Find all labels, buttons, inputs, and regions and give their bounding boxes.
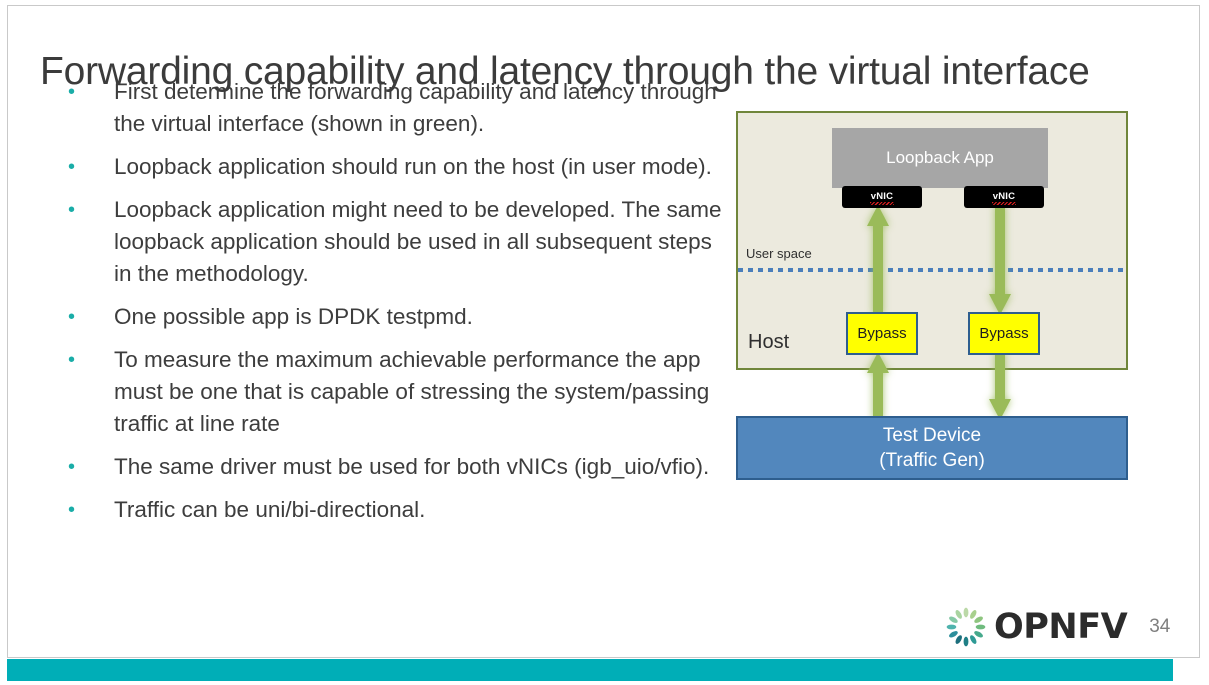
bottom-accent-bar <box>7 659 1173 681</box>
bullet-list: • First determine the forwarding capabil… <box>62 76 722 537</box>
list-item-text: One possible app is DPDK testpmd. <box>114 301 722 333</box>
list-item: • Traffic can be uni/bi-directional. <box>62 494 722 526</box>
list-item: • The same driver must be used for both … <box>62 451 722 483</box>
list-item-text: The same driver must be used for both vN… <box>114 451 722 483</box>
arrow-down-bypass-to-testdevice-icon <box>988 351 1012 421</box>
list-item-text: First determine the forwarding capabilit… <box>114 76 722 140</box>
opnfv-burst-logo-icon <box>944 605 988 649</box>
vnic-left-label: vNIC <box>871 191 893 203</box>
list-item: • First determine the forwarding capabil… <box>62 76 722 140</box>
arrow-up-vnic-to-bypass-icon <box>866 204 890 316</box>
list-item-text: Loopback application might need to be de… <box>114 194 722 290</box>
loopback-app-box: Loopback App <box>832 128 1048 188</box>
list-item: • Loopback application might need to be … <box>62 194 722 290</box>
bullet-marker-icon: • <box>62 194 114 226</box>
bypass-right-box: Bypass <box>968 312 1040 355</box>
bullet-marker-icon: • <box>62 451 114 483</box>
bullet-marker-icon: • <box>62 151 114 183</box>
user-space-label: User space <box>746 246 812 262</box>
vnic-right-label: vNIC <box>993 191 1015 203</box>
list-item: • To measure the maximum achievable perf… <box>62 344 722 440</box>
test-device-label-line1: Test Device <box>883 423 981 448</box>
bullet-marker-icon: • <box>62 494 114 526</box>
vnic-left-box: vNIC <box>842 186 922 208</box>
user-kernel-divider-line <box>738 268 1126 272</box>
bypass-right-label: Bypass <box>979 325 1028 342</box>
list-item: • Loopback application should run on the… <box>62 151 722 183</box>
bullet-marker-icon: • <box>62 301 114 333</box>
opnfv-wordmark: OPNFV <box>994 609 1127 645</box>
bypass-left-box: Bypass <box>846 312 918 355</box>
host-label: Host <box>748 331 789 353</box>
list-item-text: Traffic can be uni/bi-directional. <box>114 494 722 526</box>
bypass-left-label: Bypass <box>857 325 906 342</box>
slide-canvas: Forwarding capability and latency throug… <box>0 0 1209 685</box>
arrow-down-vnic-to-bypass-icon <box>988 204 1012 316</box>
list-item: • One possible app is DPDK testpmd. <box>62 301 722 333</box>
test-device-label-line2: (Traffic Gen) <box>879 448 985 473</box>
page-number: 34 <box>1149 609 1170 645</box>
bullet-marker-icon: • <box>62 76 114 108</box>
list-item-text: To measure the maximum achievable perfor… <box>114 344 722 440</box>
arrow-up-testdevice-to-bypass-icon <box>866 351 890 421</box>
vnic-right-box: vNIC <box>964 186 1044 208</box>
footer-branding: OPNFV 34 <box>944 604 1170 650</box>
list-item-text: Loopback application should run on the h… <box>114 151 722 183</box>
test-device-box: Test Device (Traffic Gen) <box>736 416 1128 480</box>
bullet-marker-icon: • <box>62 344 114 376</box>
architecture-diagram: User space Host Loopback App vNIC vNIC <box>736 111 1130 481</box>
loopback-app-label: Loopback App <box>886 148 994 168</box>
